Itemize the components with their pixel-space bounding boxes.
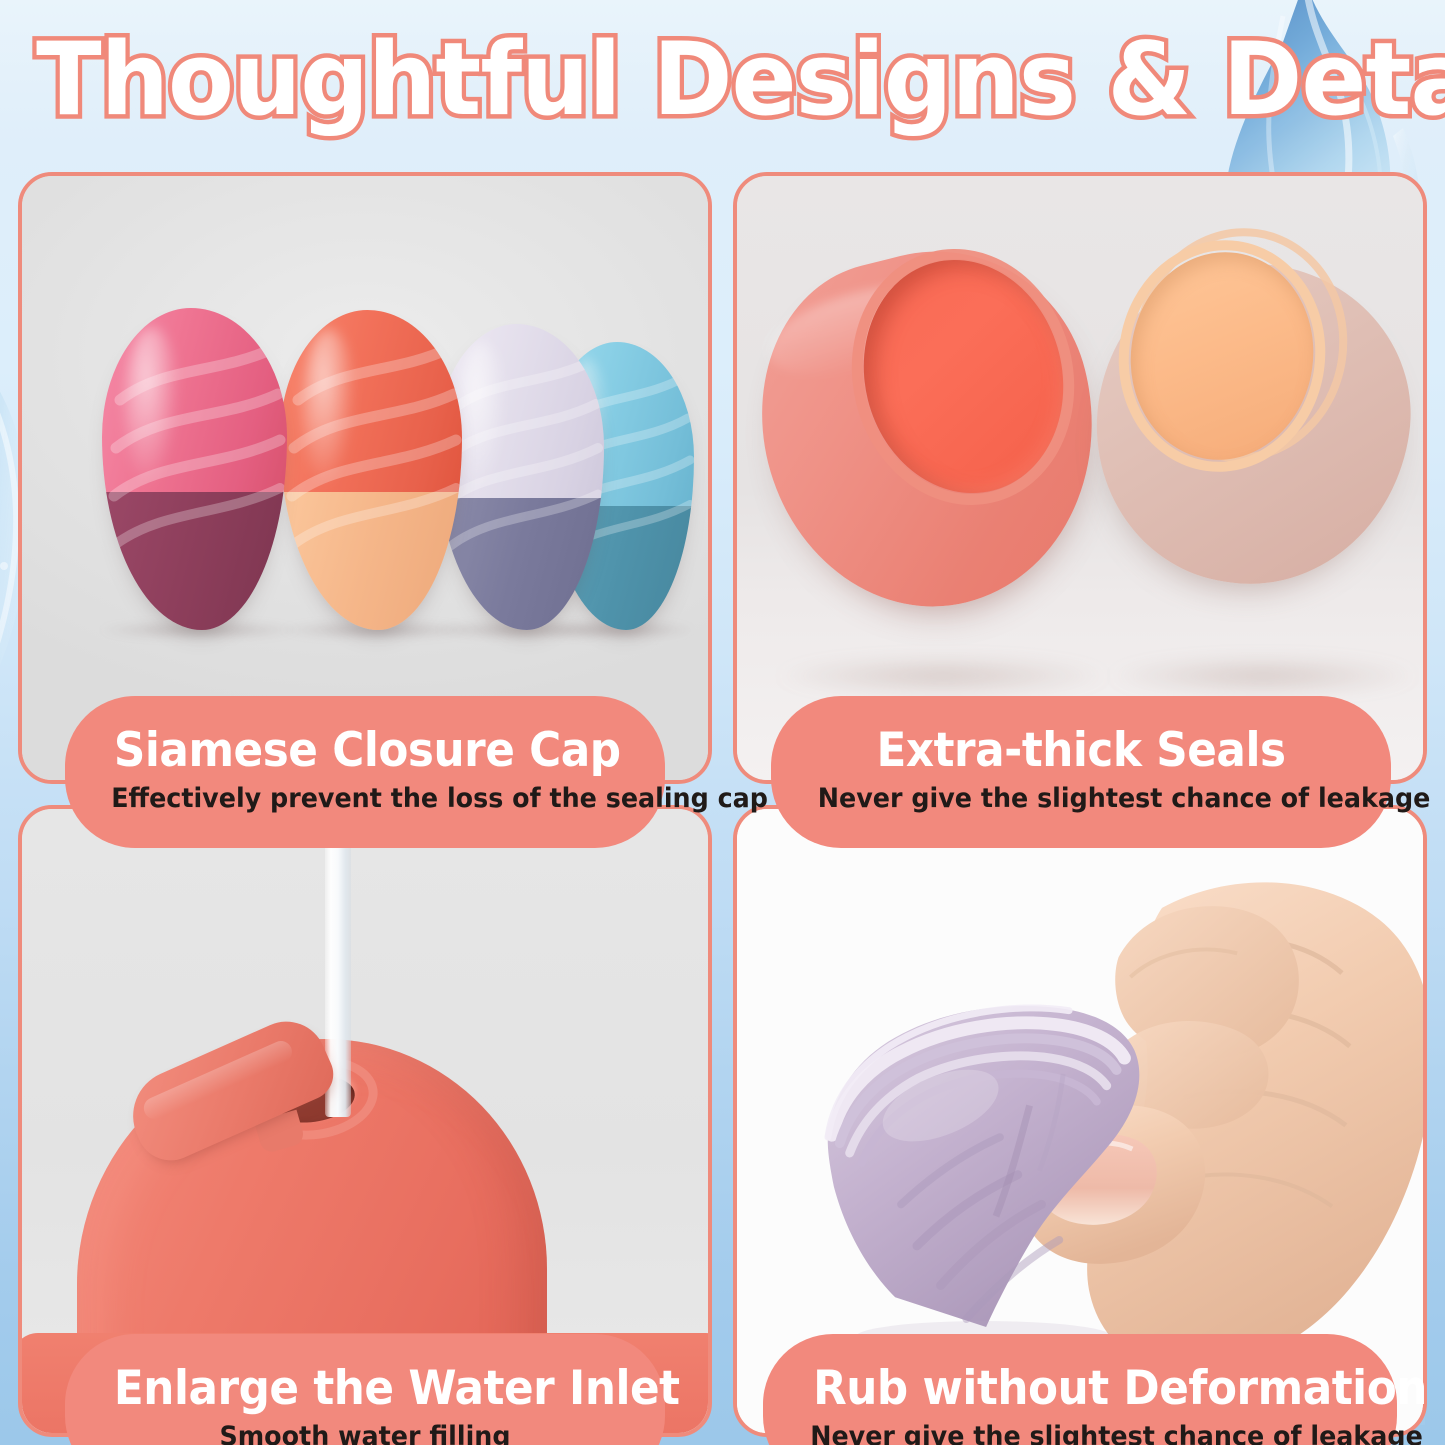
feature-grid: Siamese Closure Cap Effectively prevent … xyxy=(18,172,1427,1437)
feature-title: Rub without Deformation xyxy=(813,1361,1347,1417)
feature-label-extra-thick-seals: Extra-thick Seals Never give the slighte… xyxy=(771,696,1391,848)
feature-panel-rub-without-deformation[interactable]: Rub without Deformation Never give the s… xyxy=(733,805,1427,1437)
feature-panel-siamese-closure-cap[interactable]: Siamese Closure Cap Effectively prevent … xyxy=(18,172,712,784)
feature-subtitle: Never give the slightest chance of leaka… xyxy=(810,1419,1350,1445)
page-title: Thoughtful Designs & Details xyxy=(36,14,1409,144)
feature-label-siamese-closure-cap: Siamese Closure Cap Effectively prevent … xyxy=(65,696,665,848)
panel-frame xyxy=(18,172,712,784)
page-title-container: Thoughtful Designs & Details xyxy=(0,14,1445,154)
panel-frame xyxy=(733,172,1427,784)
feature-subtitle: Never give the slightest chance of leaka… xyxy=(818,781,1344,817)
infographic-page: Thoughtful Designs & Details xyxy=(0,0,1445,1445)
product-photo-seals xyxy=(737,176,1423,780)
feature-panel-extra-thick-seals[interactable]: Extra-thick Seals Never give the slighte… xyxy=(733,172,1427,784)
product-bottle-pink-maroon xyxy=(102,308,287,630)
product-photo-bottles xyxy=(22,176,708,780)
feature-label-rub-without-deformation: Rub without Deformation Never give the s… xyxy=(763,1334,1397,1445)
feature-label-enlarge-the-water-inlet: Enlarge the Water Inlet Smooth water fil… xyxy=(65,1334,665,1445)
feature-title: Siamese Closure Cap xyxy=(114,723,616,779)
feature-panel-enlarge-the-water-inlet[interactable]: Enlarge the Water Inlet Smooth water fil… xyxy=(18,805,712,1437)
product-bottle-coral-peach xyxy=(280,310,462,630)
feature-subtitle: Smooth water filling xyxy=(111,1419,619,1445)
feature-title: Enlarge the Water Inlet xyxy=(114,1361,616,1417)
feature-subtitle: Effectively prevent the loss of the seal… xyxy=(111,781,619,817)
feature-title: Extra-thick Seals xyxy=(821,723,1342,779)
